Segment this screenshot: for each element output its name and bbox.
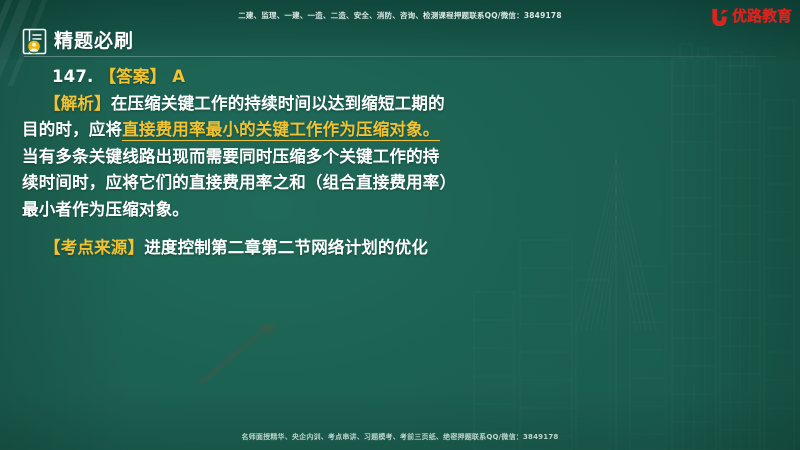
answer-line: 147. 【答案】 A [22,64,578,91]
book-badge-icon [22,28,47,55]
analysis-label: 【解析】 [44,94,111,113]
analysis-line-5: 最小者作为压缩对象。 [22,197,578,224]
brand-logo: 优路教育 [710,6,792,26]
slide-content: 147. 【答案】 A 【解析】在压缩关键工作的持续时间以达到缩短工期的 目的时… [22,64,578,262]
header-promo-text: 二建、监理、一建、一造、二造、安全、消防、咨询、检测课程押题联系QQ/微信：38… [0,10,800,21]
analysis-line-2-highlight: 直接费用率最小的关键工作作为压缩对象。 [122,120,439,141]
slide-title: 精题必刷 [54,28,134,55]
analysis-line-3: 当有多条关键线路出现而需要同时压缩多个关键工作的持 [22,144,578,171]
brand-logo-text: 优路教育 [732,7,792,26]
source-label: 【考点来源】 [44,238,144,257]
title-divider [24,56,776,57]
answer-value: A [172,67,185,86]
source-text: 进度控制第二章第二节网络计划的优化 [144,238,428,257]
analysis-line-2-prefix: 目的时，应将 [22,120,122,139]
answer-label: 【答案】 [99,67,166,86]
footer-promo-text: 名师面授精华、央企内训、考点串讲、习题模考、考前三页纸、绝密押题联系QQ/微信：… [0,432,800,442]
question-number: 147. [52,67,94,86]
analysis-line-1: 【解析】在压缩关键工作的持续时间以达到缩短工期的 [22,91,578,118]
slide-title-row: 精题必刷 [22,26,134,56]
source-line: 【考点来源】进度控制第二章第二节网络计划的优化 [22,235,578,262]
analysis-line-1-text: 在压缩关键工作的持续时间以达到缩短工期的 [111,94,445,113]
youlu-u-logo-icon [710,7,729,26]
analysis-line-4: 续时间时，应将它们的直接费用率之和（组合直接费用率） [22,170,578,197]
slide-root: 二建、监理、一建、一造、二造、安全、消防、咨询、检测课程押题联系QQ/微信：38… [0,0,800,450]
analysis-line-2: 目的时，应将直接费用率最小的关键工作作为压缩对象。 [22,117,578,144]
